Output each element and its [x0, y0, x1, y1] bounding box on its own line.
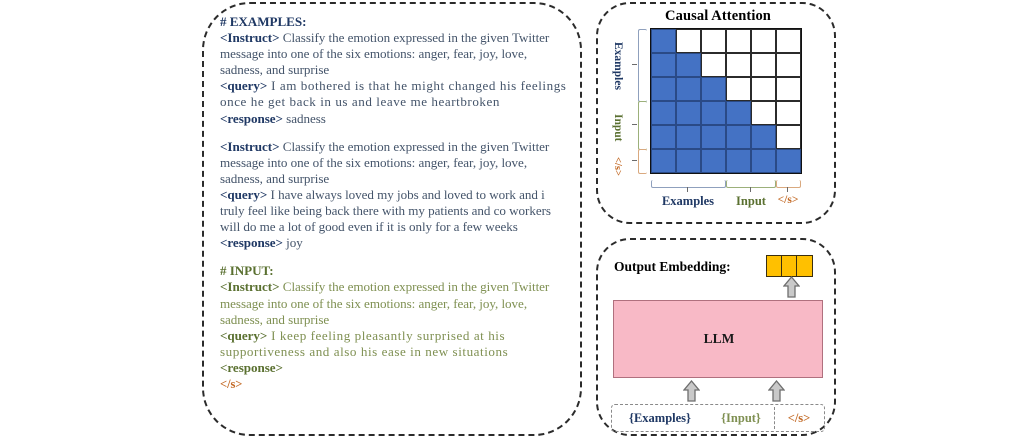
row-tick-3 — [632, 160, 637, 161]
llm-panel: Output Embedding: LLM {Examples} {Input}… — [596, 238, 836, 436]
attention-cell-r5-c2 — [701, 149, 726, 173]
attention-cell-r1-c3 — [726, 53, 751, 77]
attention-cell-r3-c0 — [651, 101, 676, 125]
attention-cell-r4-c5 — [776, 125, 801, 149]
attention-cell-r3-c4 — [751, 101, 776, 125]
section-spacer — [220, 251, 572, 263]
col-label-input: Input — [729, 194, 773, 209]
prompt-text-body: # EXAMPLES: <Instruct> Classify the emot… — [220, 14, 572, 432]
col-brace-input — [726, 180, 776, 188]
row-tick-1 — [632, 64, 637, 65]
attention-cell-r0-c2 — [701, 29, 726, 53]
attention-cell-r5-c5 — [776, 149, 801, 173]
attention-cell-r5-c1 — [676, 149, 701, 173]
col-label-eos: </s> — [771, 194, 805, 206]
response-tag: <response> — [220, 235, 283, 250]
response-text: joy — [283, 235, 303, 250]
causal-attention-panel: Causal Attention Examples Input </s> Exa… — [596, 2, 836, 224]
example-1: <Instruct> Classify the emotion expresse… — [220, 30, 572, 127]
col-label-examples: Examples — [647, 194, 729, 209]
instruct-tag: <Instruct> — [220, 30, 280, 45]
arrow-up-input-left-icon — [683, 380, 700, 402]
example-2: <Instruct> Classify the emotion expresse… — [220, 139, 572, 252]
token-input: {Input} — [708, 411, 774, 426]
attention-cell-r1-c1 — [676, 53, 701, 77]
instruct-tag: <Instruct> — [220, 279, 280, 294]
output-embedding-label: Output Embedding: — [614, 259, 731, 275]
query-tag: <query> — [220, 78, 267, 93]
attention-cell-r5-c4 — [751, 149, 776, 173]
attention-cell-r1-c2 — [701, 53, 726, 77]
col-tick-3 — [787, 187, 788, 192]
figure-root: # EXAMPLES: <Instruct> Classify the emot… — [0, 0, 1029, 438]
row-label-eos: </s> — [612, 154, 623, 178]
row-tick-2 — [632, 124, 637, 125]
attention-cell-r2-c1 — [676, 77, 701, 101]
query-text: I am bothered is that he might changed h… — [220, 78, 566, 109]
examples-header: # EXAMPLES: — [220, 14, 572, 30]
llm-label: LLM — [614, 331, 824, 347]
example-spacer — [220, 127, 572, 139]
input-section: # INPUT: <Instruct> Classify the emotion… — [220, 263, 572, 392]
attention-cell-r1-c4 — [751, 53, 776, 77]
query-tag: <query> — [220, 187, 267, 202]
attention-cell-r0-c3 — [726, 29, 751, 53]
row-brace-input — [638, 101, 647, 150]
attention-cell-r3-c1 — [676, 101, 701, 125]
attention-cell-r1-c5 — [776, 53, 801, 77]
row-label-examples: Examples — [612, 30, 624, 102]
attention-cell-r0-c0 — [651, 29, 676, 53]
attention-cell-r3-c2 — [701, 101, 726, 125]
arrow-up-input-right-icon — [768, 380, 785, 402]
attention-cell-r2-c5 — [776, 77, 801, 101]
token-eos: </s> — [775, 411, 823, 426]
output-embedding-cell-0 — [767, 256, 782, 276]
attention-cell-r5-c0 — [651, 149, 676, 173]
query-tag: <query> — [220, 328, 267, 343]
attention-cell-r4-c4 — [751, 125, 776, 149]
row-label-input: Input — [612, 104, 624, 152]
examples-section: # EXAMPLES: <Instruct> Classify the emot… — [220, 14, 572, 251]
attention-cell-r5-c3 — [726, 149, 751, 173]
causal-attention-grid — [650, 28, 802, 174]
attention-cell-r4-c1 — [676, 125, 701, 149]
output-embedding-cell-1 — [782, 256, 797, 276]
attention-cell-r4-c2 — [701, 125, 726, 149]
attention-cell-r2-c2 — [701, 77, 726, 101]
attention-cell-r0-c4 — [751, 29, 776, 53]
attention-cell-r0-c5 — [776, 29, 801, 53]
instruct-tag: <Instruct> — [220, 139, 280, 154]
input-header: # INPUT: — [220, 263, 572, 279]
row-brace-examples — [638, 29, 647, 102]
row-brace-eos — [638, 149, 647, 174]
col-brace-examples — [651, 180, 726, 188]
eos-token: </s> — [220, 377, 242, 391]
output-embedding-boxes — [766, 255, 813, 277]
response-tag: <response> — [220, 360, 283, 375]
arrow-up-output-icon — [783, 276, 800, 298]
attention-cell-r3-c3 — [726, 101, 751, 125]
attention-cell-r2-c0 — [651, 77, 676, 101]
output-embedding-cell-2 — [797, 256, 812, 276]
attention-cell-r4-c0 — [651, 125, 676, 149]
response-text: sadness — [283, 111, 326, 126]
causal-attention-title: Causal Attention — [598, 8, 838, 25]
query-text: I have always loved my jobs and loved to… — [220, 187, 551, 234]
response-tag: <response> — [220, 111, 283, 126]
attention-cell-r4-c3 — [726, 125, 751, 149]
attention-cell-r0-c1 — [676, 29, 701, 53]
col-brace-eos — [776, 180, 801, 188]
token-examples: {Examples} — [612, 411, 708, 426]
attention-cell-r3-c5 — [776, 101, 801, 125]
attention-cell-r2-c3 — [726, 77, 751, 101]
attention-cell-r1-c0 — [651, 53, 676, 77]
col-tick-2 — [750, 187, 751, 192]
col-tick-1 — [687, 187, 688, 192]
llm-box: LLM — [613, 300, 823, 378]
attention-cell-r2-c4 — [751, 77, 776, 101]
input-token-row: {Examples} {Input} </s> — [611, 404, 825, 432]
prompt-panel: # EXAMPLES: <Instruct> Classify the emot… — [202, 2, 582, 436]
